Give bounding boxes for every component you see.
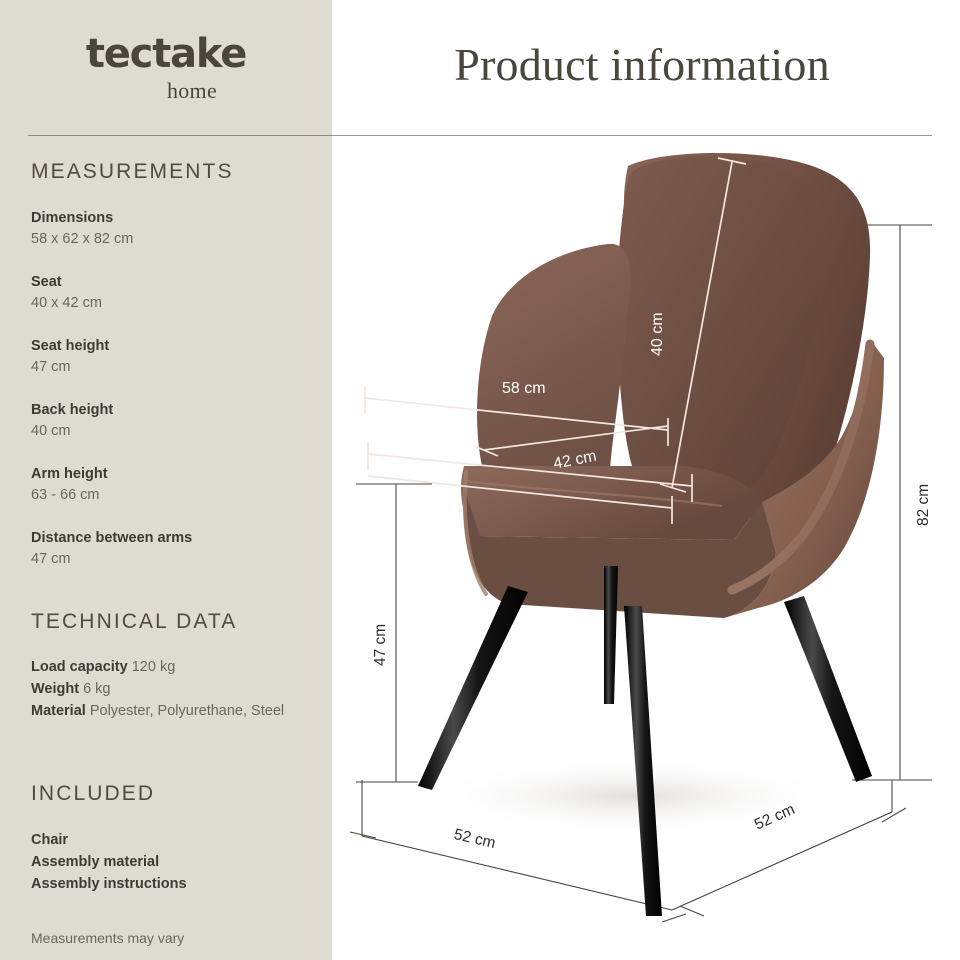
spec-value: 63 - 66 cm (31, 485, 316, 506)
tech-label: Weight (31, 681, 79, 697)
spec-dimensions: Dimensions 58 x 62 x 82 cm (31, 208, 316, 250)
spec-arm-height: Arm height 63 - 66 cm (31, 464, 316, 506)
included-item: Chair (31, 829, 68, 851)
chair-drawing (332, 136, 960, 960)
included-item: Assembly material (31, 851, 159, 873)
spec-label: Arm height (31, 464, 316, 485)
brand-logo: tectake home (0, 34, 332, 102)
tech-weight: Weight 6 kg (31, 678, 321, 700)
spec-label: Dimensions (31, 208, 316, 229)
included-item: Assembly instructions (31, 873, 187, 895)
spec-value: 40 x 42 cm (31, 293, 316, 314)
tech-label: Material (31, 703, 86, 719)
chair-legs (418, 566, 872, 916)
section-heading-included: INCLUDED (31, 782, 155, 806)
tech-value: Polyester, Polyurethane, Steel (90, 703, 284, 719)
dimension-seat-height (356, 484, 432, 782)
brand-sub-label: home (52, 80, 332, 102)
floor-shadow (422, 758, 842, 834)
footnote-measurements-may-vary: Measurements may vary (31, 930, 184, 946)
spec-value: 40 cm (31, 421, 316, 442)
spec-label: Distance between arms (31, 528, 316, 549)
leg-front-left (418, 586, 528, 790)
spec-label: Seat height (31, 336, 316, 357)
leg-rear-right (784, 596, 872, 782)
spec-distance-between-arms: Distance between arms 47 cm (31, 528, 316, 570)
spec-value: 47 cm (31, 549, 316, 570)
spec-value: 47 cm (31, 357, 316, 378)
section-heading-measurements: MEASUREMENTS (31, 160, 234, 184)
spec-back-height: Back height 40 cm (31, 400, 316, 442)
page-title: Product information (332, 38, 952, 91)
chair-body (461, 153, 884, 618)
tech-label: Load capacity (31, 659, 128, 675)
tech-load-capacity: Load capacity 120 kg (31, 656, 321, 678)
spec-value: 58 x 62 x 82 cm (31, 229, 316, 250)
tech-value: 6 kg (83, 681, 110, 697)
divider-left (28, 135, 332, 136)
spec-seat-height: Seat height 47 cm (31, 336, 316, 378)
product-information-sheet: tectake home MEASUREMENTS Dimensions 58 … (0, 0, 960, 960)
section-heading-technical-data: TECHNICAL DATA (31, 610, 237, 634)
seat-cushion (461, 466, 762, 540)
product-illustration: 40 cm 58 cm 40 cm 42 cm 82 cm 47 cm 52 c… (332, 136, 960, 960)
spec-seat: Seat 40 x 42 cm (31, 272, 316, 314)
leg-rear-left (604, 566, 618, 704)
left-armrest (477, 244, 630, 488)
brand-name: tectake (0, 34, 332, 74)
tech-value: 120 kg (132, 659, 176, 675)
tech-material: Material Polyester, Polyurethane, Steel (31, 700, 321, 722)
spec-label: Seat (31, 272, 316, 293)
sidebar: tectake home MEASUREMENTS Dimensions 58 … (0, 0, 332, 960)
spec-label: Back height (31, 400, 316, 421)
